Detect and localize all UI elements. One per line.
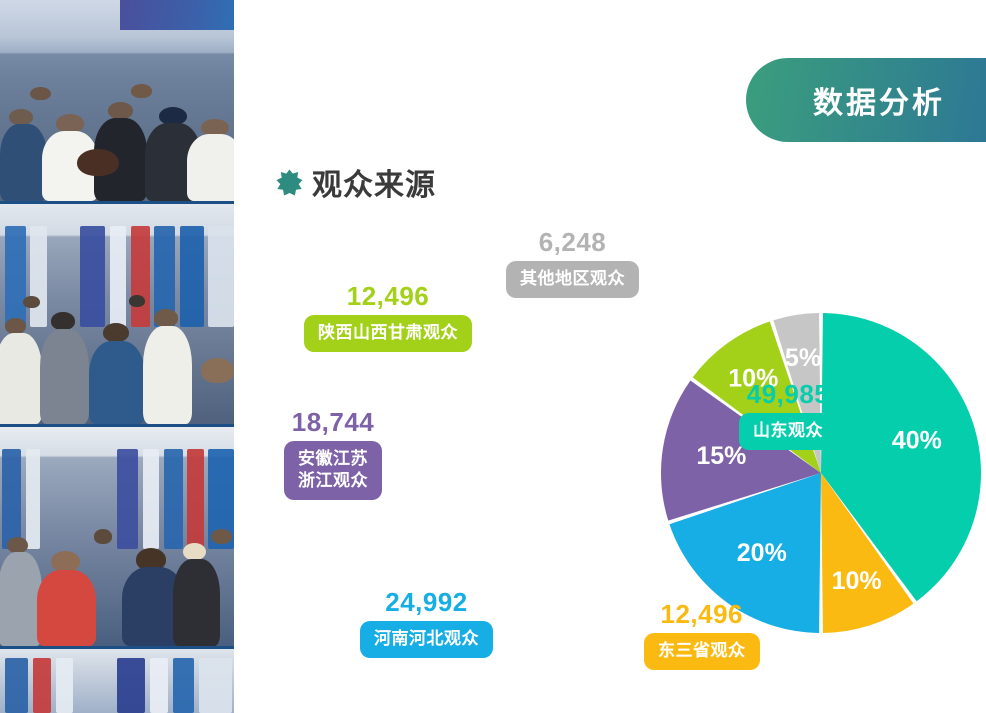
callout-shandong: 49,985 山东观众: [739, 380, 837, 450]
callout-label: 安徽江苏 浙江观众: [284, 441, 382, 500]
callout-value: 49,985: [747, 380, 830, 408]
callout-value: 18,744: [292, 408, 375, 436]
section-badge: 数据分析: [746, 58, 986, 142]
callout-henan-hebei: 24,992 河南河北观众: [360, 588, 493, 658]
callout-label: 山东观众: [739, 413, 837, 450]
callout-other-regions: 6,248 其他地区观众: [506, 228, 639, 298]
callout-value: 12,496: [660, 600, 743, 628]
crowd-layer: [0, 288, 234, 424]
photo-visitors-booths: [0, 427, 234, 649]
photo-hall-overview: [0, 649, 234, 713]
callout-label: 东三省观众: [644, 633, 760, 670]
pie-chart: 40%10%20%15%10%5%: [658, 310, 984, 636]
callout-label: 陕西山西甘肃观众: [304, 315, 472, 352]
callout-label: 河南河北观众: [360, 621, 493, 658]
pie-slice-percent-label: 5%: [785, 344, 821, 372]
chart-heading: 观众来源: [276, 160, 436, 204]
star-burst-icon: [276, 169, 303, 196]
pie-slice-percent-label: 40%: [892, 427, 942, 455]
callout-anhui-jiangsu-zhejiang: 18,744 安徽江苏 浙江观众: [284, 408, 382, 500]
crowd-layer: [0, 510, 234, 646]
photo-exhibition-aisle: [0, 204, 234, 426]
photo-strip: [0, 0, 234, 713]
photo-banner: [120, 0, 234, 30]
crowd-layer: [0, 77, 234, 202]
content-area: 数据分析 观众来源 40%10%20%15%10%5% 6,248 其他地区观众…: [234, 0, 986, 713]
callout-value: 24,992: [385, 588, 468, 616]
photo-entrance-crowd: [0, 0, 234, 204]
callout-shaanxi-shanxi-gansu: 12,496 陕西山西甘肃观众: [304, 282, 472, 352]
callout-value: 6,248: [539, 228, 607, 256]
callout-northeast-three-provinces: 12,496 东三省观众: [644, 600, 760, 670]
pie-slice-percent-label: 20%: [737, 539, 787, 567]
section-badge-label: 数据分析: [787, 78, 945, 122]
booth-layer: [0, 658, 234, 713]
callout-label: 其他地区观众: [506, 261, 639, 298]
callout-value: 12,496: [347, 282, 430, 310]
chart-heading-label: 观众来源: [312, 160, 436, 204]
pie-chart-svg: 40%10%20%15%10%5%: [658, 310, 984, 636]
pie-slice-percent-label: 10%: [832, 567, 882, 595]
